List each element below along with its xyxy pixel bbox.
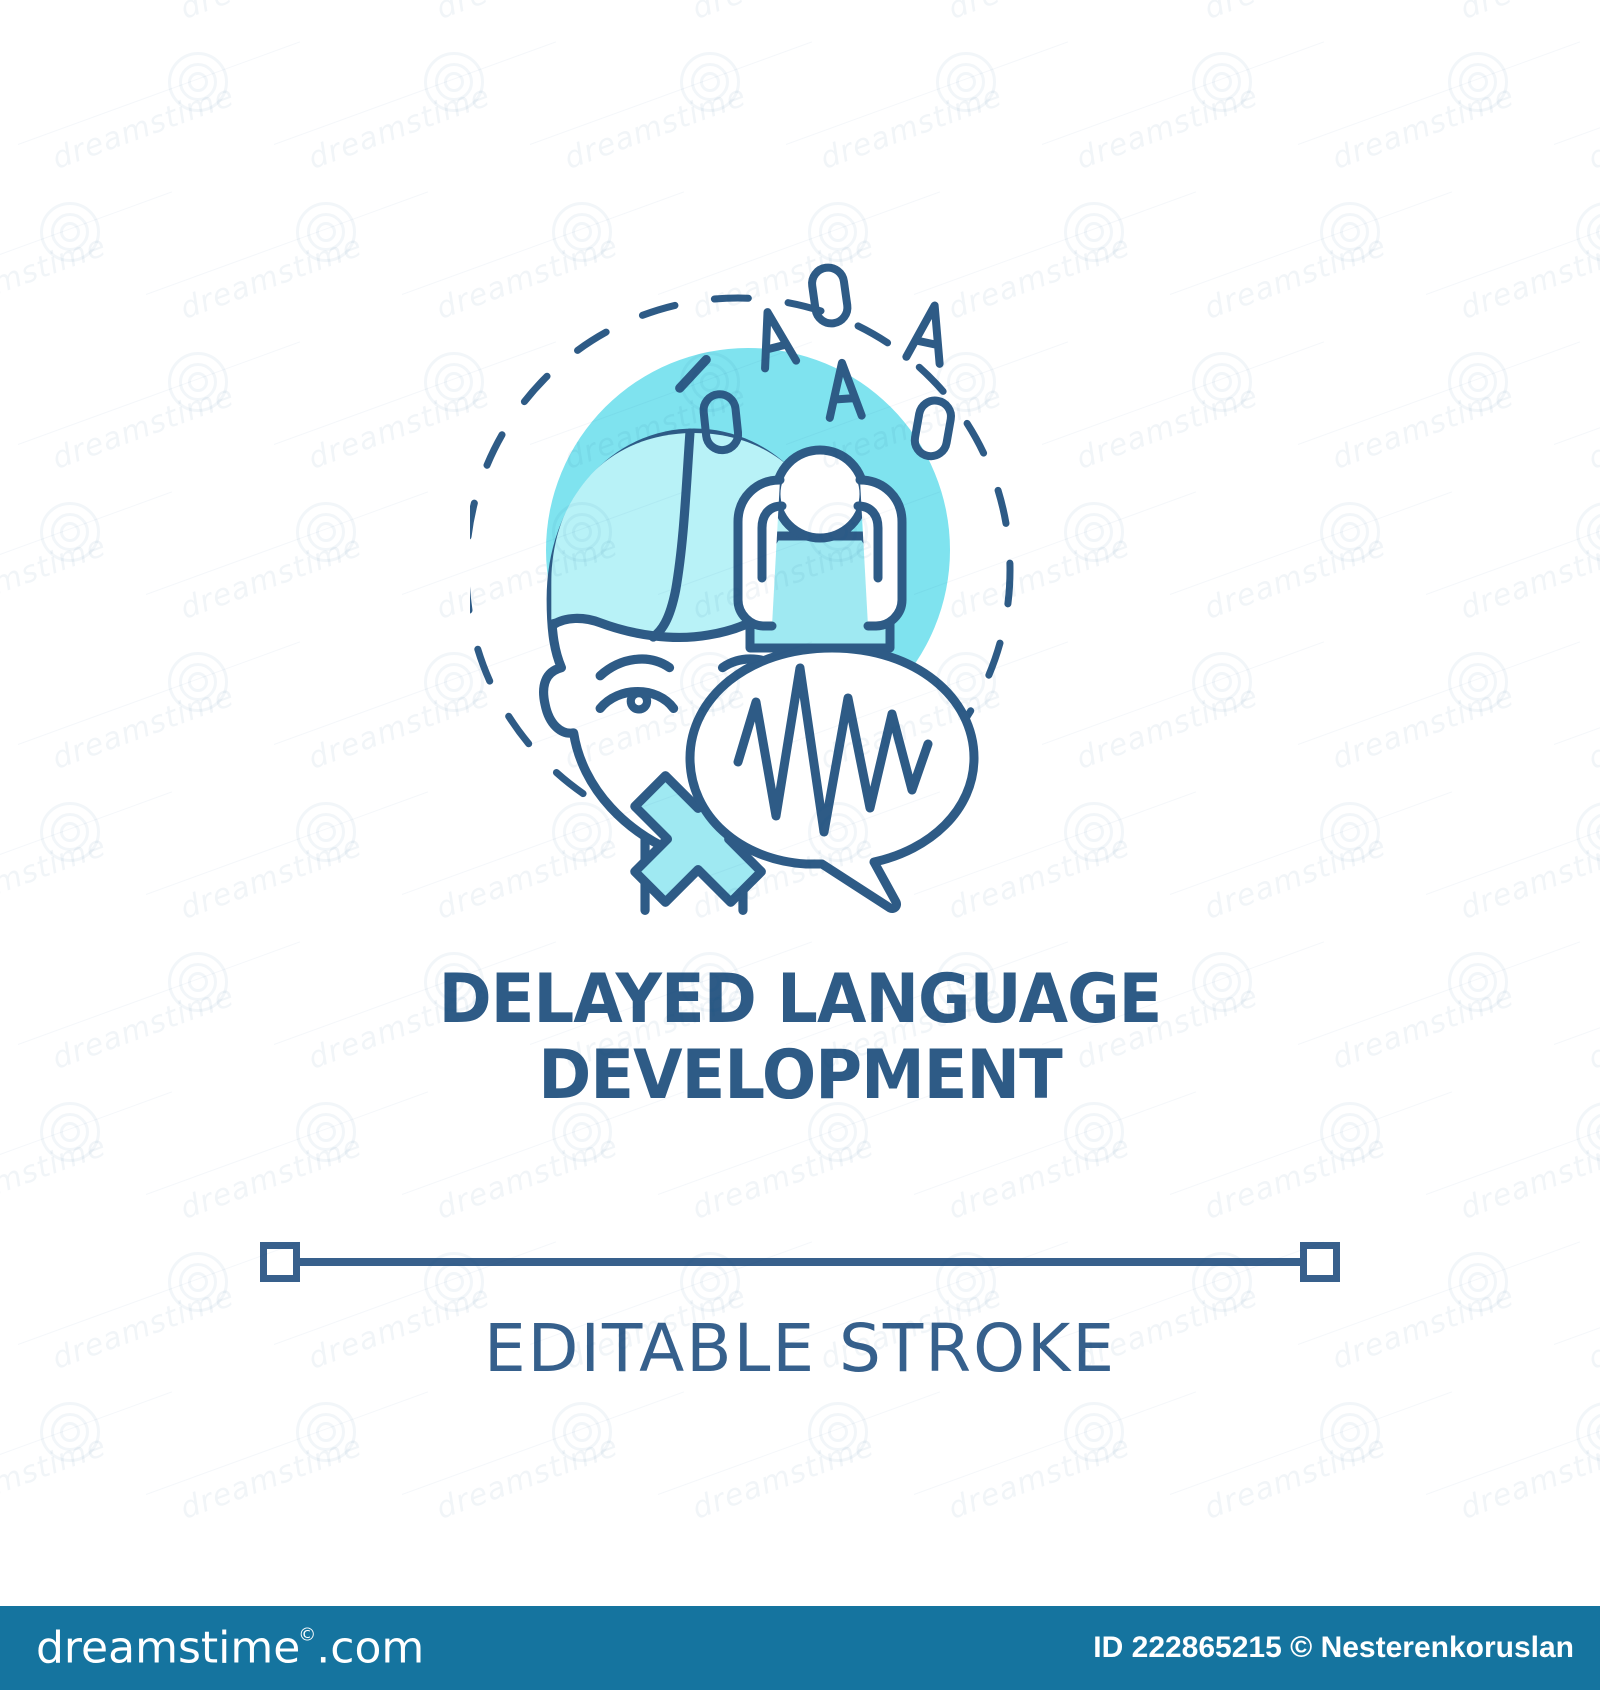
watermark-text: dreamstime <box>1328 378 1519 476</box>
watermark-spiral-icon <box>1064 502 1124 562</box>
watermark-hairline <box>1042 41 1324 145</box>
watermark-text: dreamstime <box>1456 0 1600 27</box>
watermark-text: dreamstime <box>0 1128 111 1226</box>
watermark-spiral-icon <box>1064 202 1124 262</box>
watermark-hairline <box>914 1391 1196 1495</box>
watermark-text: dreamstime <box>304 678 495 776</box>
watermark-hairline <box>658 1391 940 1495</box>
dreamstime-logo: dreamstime©.com <box>36 1623 424 1674</box>
watermark-spiral-icon <box>1448 1252 1508 1312</box>
watermark-hairline <box>1554 341 1600 445</box>
watermark-spiral-icon <box>1576 202 1600 262</box>
watermark-text: dreamstime <box>0 828 111 926</box>
watermark-hairline <box>786 41 1068 145</box>
watermark-text: dreamstime <box>176 528 367 626</box>
divider-endpoint-left <box>260 1242 300 1282</box>
watermark-hairline <box>1426 791 1600 895</box>
watermark-text: dreamstime <box>688 0 879 27</box>
frustrated-person-icon <box>738 450 902 648</box>
watermark-spiral-icon <box>168 352 228 412</box>
watermark-text: dreamstime <box>688 1128 879 1226</box>
watermark-spiral-icon <box>1576 502 1600 562</box>
watermark-text: dreamstime <box>432 1128 623 1226</box>
watermark-spiral-icon <box>424 52 484 112</box>
watermark-text: dreamstime <box>432 1428 623 1526</box>
watermark-text: dreamstime <box>1072 378 1263 476</box>
watermark-text: dreamstime <box>1200 528 1391 626</box>
watermark-text: dreamstime <box>1072 78 1263 176</box>
watermark-hairline <box>0 1391 172 1495</box>
watermark-hairline <box>18 41 300 145</box>
watermark-hairline <box>1170 491 1452 595</box>
watermark-text: dreamstime <box>1456 528 1600 626</box>
watermark-spiral-icon <box>168 652 228 712</box>
registered-mark-icon: © <box>298 1625 316 1646</box>
watermark-hairline <box>1170 191 1452 295</box>
watermark-hairline <box>274 41 556 145</box>
watermark-hairline <box>530 41 812 145</box>
watermark-spiral-icon <box>168 52 228 112</box>
page-title: DELAYED LANGUAGE DEVELOPMENT <box>0 962 1600 1114</box>
divider-endpoint-right <box>1300 1242 1340 1282</box>
watermark-text: dreamstime <box>1456 1428 1600 1526</box>
watermark-hairline <box>1554 641 1600 745</box>
watermark-spiral-icon <box>1064 1402 1124 1462</box>
editable-stroke-label: EDITABLE STROKE <box>0 1310 1600 1387</box>
watermark-text: dreamstime <box>944 0 1135 27</box>
illustration-svg <box>470 240 1070 920</box>
watermark-text: dreamstime <box>1200 1428 1391 1526</box>
watermark-spiral-icon <box>40 502 100 562</box>
watermark-hairline <box>146 191 428 295</box>
watermark-text: dreamstime <box>560 78 751 176</box>
watermark-text: dreamstime <box>1200 0 1391 27</box>
watermark-spiral-icon <box>1448 352 1508 412</box>
watermark-text: dreamstime <box>0 228 111 326</box>
watermark-text: dreamstime <box>304 78 495 176</box>
watermark-hairline <box>1170 1391 1452 1495</box>
watermark-hairline <box>1426 1391 1600 1495</box>
letter-o-3 <box>912 398 953 459</box>
logo-wordmark: dreamstime <box>36 1623 300 1674</box>
watermark-text: dreamstime <box>0 0 111 27</box>
watermark-text: dreamstime <box>1200 1128 1391 1226</box>
watermark-spiral-icon <box>808 1402 868 1462</box>
watermark-text: dreamstime <box>48 378 239 476</box>
title-line-2: DEVELOPMENT <box>48 1038 1552 1114</box>
watermark-spiral-icon <box>1192 52 1252 112</box>
person-head <box>776 450 864 538</box>
watermark-spiral-icon <box>296 502 356 562</box>
concept-illustration <box>470 240 1070 920</box>
watermark-text: dreamstime <box>944 1128 1135 1226</box>
title-line-1: DELAYED LANGUAGE <box>48 962 1552 1038</box>
logo-domain-suffix: .com <box>316 1623 424 1674</box>
watermark-text: dreamstime <box>1328 78 1519 176</box>
watermark-spiral-icon <box>296 802 356 862</box>
watermark-spiral-icon <box>1320 802 1380 862</box>
stroke-divider <box>268 1258 1332 1266</box>
watermark-spiral-icon <box>1320 202 1380 262</box>
watermark-hairline <box>18 641 300 745</box>
watermark-hairline <box>146 1391 428 1495</box>
watermark-hairline <box>1298 341 1580 445</box>
watermark-hairline <box>146 791 428 895</box>
watermark-text: dreamstime <box>688 1428 879 1526</box>
watermark-spiral-icon <box>552 1402 612 1462</box>
watermark-hairline <box>402 1391 684 1495</box>
watermark-spiral-icon <box>1192 352 1252 412</box>
watermark-spiral-icon <box>40 802 100 862</box>
watermark-text: dreamstime <box>1456 1128 1600 1226</box>
watermark-spiral-icon <box>1192 652 1252 712</box>
watermark-text: dreamstime <box>1072 678 1263 776</box>
watermark-spiral-icon <box>1320 1402 1380 1462</box>
watermark-hairline <box>1170 791 1452 895</box>
watermark-text: dreamstime <box>432 0 623 27</box>
watermark-text: dreamstime <box>176 1428 367 1526</box>
watermark-text: dreamstime <box>0 1428 111 1526</box>
watermark-text: dreamstime <box>1456 828 1600 926</box>
watermark-text: dreamstime <box>1456 228 1600 326</box>
watermark-text: dreamstime <box>176 228 367 326</box>
watermark-text: dreamstime <box>176 828 367 926</box>
footer-bar: dreamstime©.com ID 222865215 © Nesterenk… <box>0 1606 1600 1690</box>
watermark-spiral-icon <box>1448 652 1508 712</box>
watermark-hairline <box>1042 641 1324 745</box>
watermark-spiral-icon <box>40 202 100 262</box>
watermark-spiral-icon <box>1448 52 1508 112</box>
watermark-hairline <box>1426 191 1600 295</box>
watermark-text: dreamstime <box>1584 378 1600 476</box>
watermark-hairline <box>1298 641 1580 745</box>
watermark-hairline <box>1554 41 1600 145</box>
watermark-text: dreamstime <box>176 0 367 27</box>
watermark-hairline <box>0 191 172 295</box>
watermark-text: dreamstime <box>1200 828 1391 926</box>
watermark-hairline <box>1298 41 1580 145</box>
watermark-text: dreamstime <box>1584 678 1600 776</box>
watermark-hairline <box>0 791 172 895</box>
watermark-hairline <box>1042 341 1324 445</box>
watermark-text: dreamstime <box>48 678 239 776</box>
image-credit: ID 222865215 © Nesterenkoruslan <box>1093 1631 1574 1665</box>
watermark-spiral-icon <box>1064 802 1124 862</box>
watermark-text: dreamstime <box>816 78 1007 176</box>
watermark-spiral-icon <box>296 202 356 262</box>
watermark-text: dreamstime <box>1200 228 1391 326</box>
watermark-text: dreamstime <box>0 528 111 626</box>
watermark-text: dreamstime <box>176 1128 367 1226</box>
watermark-hairline <box>18 341 300 445</box>
letter-o-1 <box>810 266 849 326</box>
watermark-spiral-icon <box>680 52 740 112</box>
watermark-spiral-icon <box>296 1402 356 1462</box>
watermark-hairline <box>1426 491 1600 595</box>
watermark-text: dreamstime <box>1584 78 1600 176</box>
watermark-text: dreamstime <box>48 78 239 176</box>
watermark-spiral-icon <box>1320 502 1380 562</box>
watermark-spiral-icon <box>40 1402 100 1462</box>
letter-a-2 <box>906 302 951 364</box>
watermark-spiral-icon <box>168 1252 228 1312</box>
watermark-hairline <box>146 491 428 595</box>
watermark-spiral-icon <box>1576 802 1600 862</box>
watermark-spiral-icon <box>1576 1402 1600 1462</box>
watermark-hairline <box>0 491 172 595</box>
watermark-spiral-icon <box>936 52 996 112</box>
watermark-text: dreamstime <box>944 1428 1135 1526</box>
watermark-text: dreamstime <box>304 378 495 476</box>
watermark-text: dreamstime <box>1328 678 1519 776</box>
